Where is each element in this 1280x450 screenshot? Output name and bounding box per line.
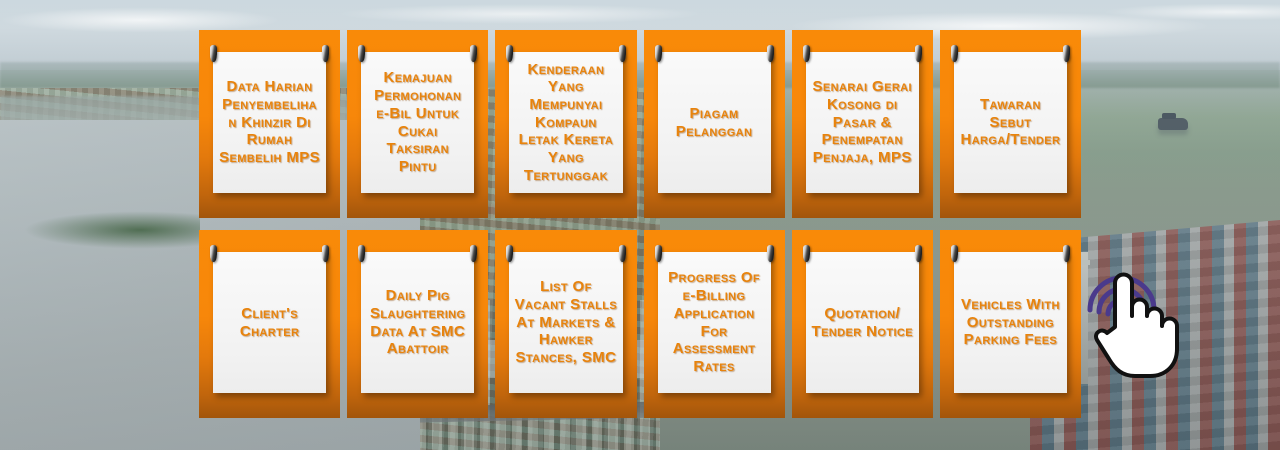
note-sheet: List Of Vacant Stalls At Markets & Hawke… (509, 252, 622, 393)
service-card[interactable]: Senarai Gerai Kosong di Pasar & Penempat… (792, 30, 933, 218)
service-card[interactable]: Piagam Pelanggan (644, 30, 785, 218)
service-card[interactable]: Vehicles With Outstanding Parking Fees (940, 230, 1081, 418)
note-sheet: Daily Pig Slaughtering Data At SMC Abatt… (361, 252, 474, 393)
pushpin-icon (767, 245, 774, 262)
card-label: Quotation/ Tender Notice (811, 305, 914, 340)
card-label: Vehicles With Outstanding Parking Fees (959, 296, 1062, 349)
service-card[interactable]: Tawaran Sebut Harga/Tender (940, 30, 1081, 218)
service-card[interactable]: Quotation/ Tender Notice (792, 230, 933, 418)
card-grid: Data Harian Penyembelihan Khinzir Di Rum… (199, 30, 1081, 418)
pushpin-icon (619, 245, 626, 262)
pushpin-icon (951, 245, 958, 262)
card-label: List Of Vacant Stalls At Markets & Hawke… (514, 278, 617, 366)
pushpin-icon (655, 45, 662, 62)
pushpin-icon (506, 45, 513, 62)
pushpin-icon (470, 45, 477, 62)
service-card[interactable]: Progress Of e-Billing Application For As… (644, 230, 785, 418)
pushpin-icon (506, 245, 513, 262)
note-sheet: Data Harian Penyembelihan Khinzir Di Rum… (213, 52, 326, 193)
pushpin-icon (210, 245, 217, 262)
pushpin-icon (803, 245, 810, 262)
pushpin-icon (358, 245, 365, 262)
pushpin-icon (803, 45, 810, 62)
service-card[interactable]: List Of Vacant Stalls At Markets & Hawke… (495, 230, 636, 418)
card-label: Data Harian Penyembelihan Khinzir Di Rum… (218, 78, 321, 166)
card-label: Progress Of e-Billing Application For As… (663, 269, 766, 375)
note-sheet: Piagam Pelanggan (658, 52, 771, 193)
pushpin-icon (470, 245, 477, 262)
card-label: Kemajuan Permohonan e-Bil Untuk Cukai Ta… (366, 69, 469, 175)
note-sheet: Quotation/ Tender Notice (806, 252, 919, 393)
pushpin-icon (767, 45, 774, 62)
note-sheet: Tawaran Sebut Harga/Tender (954, 52, 1067, 193)
service-card[interactable]: Daily Pig Slaughtering Data At SMC Abatt… (347, 230, 488, 418)
pushpin-icon (322, 245, 329, 262)
pushpin-icon (358, 45, 365, 62)
pushpin-icon (915, 45, 922, 62)
service-card[interactable]: Kenderaan Yang Mempunyai Kompaun Letak K… (495, 30, 636, 218)
pushpin-icon (1063, 45, 1070, 62)
pushpin-icon (619, 45, 626, 62)
card-label: Daily Pig Slaughtering Data At SMC Abatt… (366, 287, 469, 358)
pushpin-icon (655, 245, 662, 262)
pushpin-icon (1063, 245, 1070, 262)
card-label: Tawaran Sebut Harga/Tender (959, 96, 1062, 149)
pushpin-icon (951, 45, 958, 62)
card-label: Client's Charter (218, 305, 321, 340)
note-sheet: Kemajuan Permohonan e-Bil Untuk Cukai Ta… (361, 52, 474, 193)
service-card[interactable]: Kemajuan Permohonan e-Bil Untuk Cukai Ta… (347, 30, 488, 218)
note-sheet: Kenderaan Yang Mempunyai Kompaun Letak K… (509, 52, 622, 193)
pushpin-icon (915, 245, 922, 262)
note-sheet: Senarai Gerai Kosong di Pasar & Penempat… (806, 52, 919, 193)
service-card[interactable]: Client's Charter (199, 230, 340, 418)
card-label: Kenderaan Yang Mempunyai Kompaun Letak K… (514, 61, 617, 185)
note-sheet: Client's Charter (213, 252, 326, 393)
service-card[interactable]: Data Harian Penyembelihan Khinzir Di Rum… (199, 30, 340, 218)
page-root: Data Harian Penyembelihan Khinzir Di Rum… (0, 0, 1280, 450)
card-label: Piagam Pelanggan (663, 105, 766, 140)
note-sheet: Vehicles With Outstanding Parking Fees (954, 252, 1067, 393)
pushpin-icon (210, 45, 217, 62)
pushpin-icon (322, 45, 329, 62)
card-label: Senarai Gerai Kosong di Pasar & Penempat… (811, 78, 914, 166)
note-sheet: Progress Of e-Billing Application For As… (658, 252, 771, 393)
